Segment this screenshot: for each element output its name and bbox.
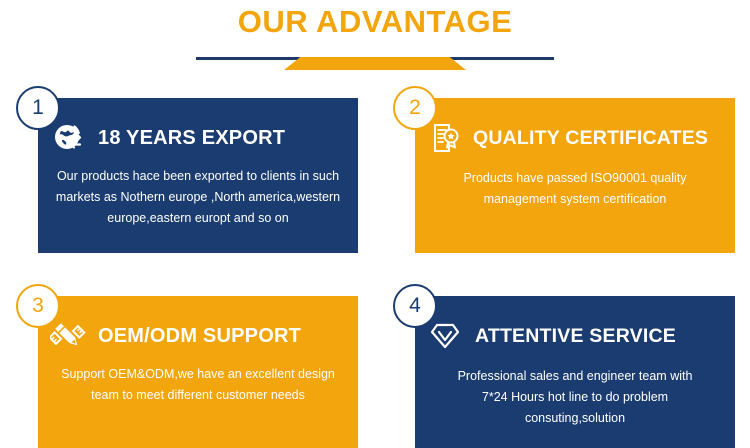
advantage-cards-grid: 18 YEARS EXPORT Our products hace been e…	[0, 78, 750, 445]
card-4-header: ATTENTIVE SERVICE	[425, 316, 735, 356]
advantage-card-2[interactable]: QUALITY CERTIFICATES Products have passe…	[415, 98, 735, 253]
certificate-icon	[425, 118, 465, 158]
card-4-body: Professional sales and engineer team wit…	[415, 366, 735, 429]
header: OUR ADVANTAGE	[0, 0, 750, 78]
card-number-badge-2: 2	[393, 86, 437, 130]
card-3-title: OEM/ODM SUPPORT	[98, 325, 301, 348]
advantage-card-4[interactable]: ATTENTIVE SERVICE Professional sales and…	[415, 296, 735, 448]
card-1-header: 18 YEARS EXPORT	[48, 118, 358, 158]
card-number-badge-4: 4	[393, 284, 437, 328]
card-number-3: 3	[32, 294, 44, 318]
card-1-body: Our products hace been exported to clien…	[38, 166, 358, 229]
card-number-badge-3: 3	[16, 284, 60, 328]
advantage-card-3[interactable]: OEM/ODM SUPPORT Support OEM&ODM,we have …	[38, 296, 358, 448]
card-number-badge-1: 1	[16, 86, 60, 130]
globe-exchange-icon	[48, 118, 88, 158]
shield-check-icon	[425, 316, 465, 356]
card-1-title: 18 YEARS EXPORT	[98, 127, 285, 150]
card-number-4: 4	[409, 294, 421, 318]
card-3-header: OEM/ODM SUPPORT	[48, 316, 358, 356]
card-number-1: 1	[32, 96, 44, 120]
card-2-title: QUALITY CERTIFICATES	[473, 127, 708, 150]
card-2-body: Products have passed ISO90001 quality ma…	[415, 168, 735, 210]
card-number-2: 2	[409, 96, 421, 120]
divider-tab-shape	[284, 57, 466, 70]
card-3-body: Support OEM&ODM,we have an excellent des…	[38, 364, 358, 406]
title-divider	[196, 54, 554, 72]
pencil-ruler-icon	[48, 316, 88, 356]
page-title: OUR ADVANTAGE	[0, 2, 750, 42]
card-4-title: ATTENTIVE SERVICE	[475, 325, 676, 348]
card-2-header: QUALITY CERTIFICATES	[425, 118, 735, 158]
advantage-card-1[interactable]: 18 YEARS EXPORT Our products hace been e…	[38, 98, 358, 253]
